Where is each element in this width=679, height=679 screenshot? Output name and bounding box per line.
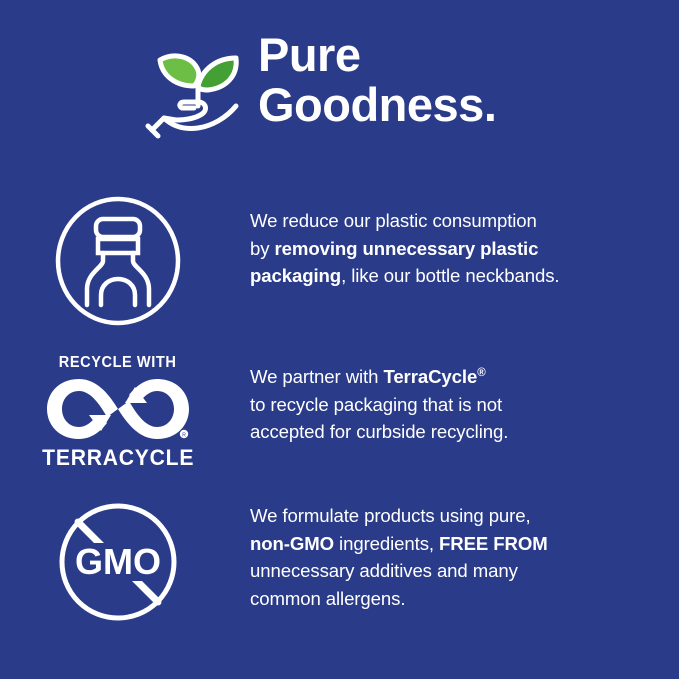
terracycle-infinity-icon: R <box>45 375 191 443</box>
title-line-1: Pure <box>258 30 496 80</box>
gmo-label: GMO <box>75 541 161 582</box>
terracycle-logo: RECYCLE WITH R TERRACYCLE <box>44 354 192 471</box>
svg-text:R: R <box>182 432 186 438</box>
bottle-neckband-icon <box>53 195 183 327</box>
benefit-row-terracycle: RECYCLE WITH R TERRACYCLE We partner wit… <box>0 348 679 476</box>
text-line: unnecessary additives and many <box>250 557 679 585</box>
text-line: common allergens. <box>250 585 679 613</box>
text-line: to recycle packaging that is not <box>250 391 679 419</box>
text-line: non-GMO ingredients, FREE FROM <box>250 530 679 558</box>
terracycle-bottom-text: TERRACYCLE <box>42 445 194 471</box>
no-gmo-icon: GMO <box>56 500 180 624</box>
page-title: Pure Goodness. <box>258 28 496 130</box>
title-line-2: Goodness. <box>258 80 496 130</box>
text-line: We formulate products using pure, <box>250 502 679 530</box>
benefit-icon-cell: GMO <box>0 494 250 629</box>
benefit-icon-cell <box>0 193 250 328</box>
text-line: We reduce our plastic consumption <box>250 207 679 235</box>
pure-goodness-poster: Pure Goodness. We reduce our plastic con… <box>0 0 679 679</box>
benefit-text-plastic: We reduce our plastic consumption by rem… <box>250 193 679 290</box>
text-line: by removing unnecessary plastic <box>250 235 679 263</box>
benefit-text-terracycle: We partner with TerraCycle® to recycle p… <box>250 348 679 446</box>
terracycle-top-text: RECYCLE WITH <box>59 354 177 372</box>
hand-holding-sprout-icon <box>146 32 254 140</box>
benefit-row-gmo: GMO We formulate products using pure, no… <box>0 494 679 629</box>
header: Pure Goodness. <box>0 28 679 153</box>
text-line: accepted for curbside recycling. <box>250 418 679 446</box>
text-line: We partner with TerraCycle® <box>250 360 679 391</box>
benefit-icon-cell: RECYCLE WITH R TERRACYCLE <box>0 348 250 476</box>
text-line: packaging, like our bottle neckbands. <box>250 262 679 290</box>
benefit-text-gmo: We formulate products using pure, non-GM… <box>250 494 679 612</box>
benefit-row-plastic: We reduce our plastic consumption by rem… <box>0 193 679 328</box>
